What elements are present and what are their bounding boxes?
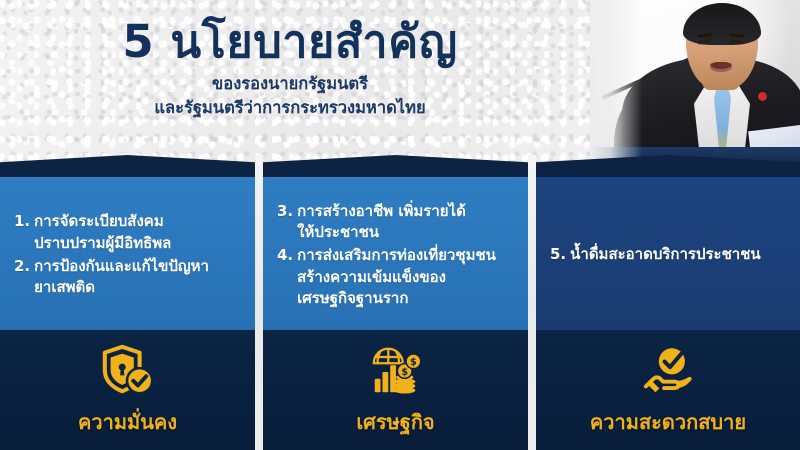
policy-card-3[interactable]: 5. น้ำดื่มสะอาดบริการประชาชน <box>536 155 800 333</box>
policy-number: 2. <box>14 256 30 277</box>
policy-line: เศรษฐกิจฐานราก <box>297 289 408 307</box>
policy-number: 5. <box>550 244 566 265</box>
pillar-convenience[interactable]: ความสะดวกสบาย <box>536 330 800 450</box>
pillars-band: ความมั่นคง <box>0 330 800 450</box>
policy-item: 5. น้ำดื่มสะอาดบริการประชาชน <box>550 244 788 265</box>
policy-card-1-list: 1. การจัดระเบียบสังคม ปราบปรามผู้มีอิทธิ… <box>0 177 255 333</box>
policy-item: 1. การจัดระเบียบสังคม ปราบปรามผู้มีอิทธิ… <box>14 211 243 254</box>
policy-text: การสร้างอาชีพ เพิ่มรายได้ ให้ประชาชน <box>297 201 516 244</box>
policy-card-3-body: 5. น้ำดื่มสะอาดบริการประชาชน <box>536 177 800 333</box>
policy-line: การป้องกันและแก้ไขปัญหา <box>34 257 209 275</box>
page-title: 5 นโยบายสำคัญ <box>0 18 580 65</box>
title-block: 5 นโยบายสำคัญ ของรองนายกรัฐมนตรี และรัฐม… <box>0 18 580 120</box>
column-divider-2 <box>528 155 536 450</box>
infographic-root: 5 นโยบายสำคัญ ของรองนายกรัฐมนตรี และรัฐม… <box>0 0 800 450</box>
policy-text: การส่งเสริมการท่องเที่ยวชุมชน สร้างความเ… <box>297 245 516 309</box>
shield-check-icon <box>97 342 159 400</box>
policy-line: การจัดระเบียบสังคม <box>34 212 164 230</box>
policy-item: 3. การสร้างอาชีพ เพิ่มรายได้ ให้ประชาชน <box>277 201 516 244</box>
policy-line: สร้างความเข้มแข็งของ <box>297 268 446 286</box>
policy-card-2-list: 3. การสร้างอาชีพ เพิ่มรายได้ ให้ประชาชน … <box>263 177 528 333</box>
svg-text:$: $ <box>410 357 417 368</box>
policy-number: 3. <box>277 201 293 222</box>
svg-text:$: $ <box>401 367 408 378</box>
pillar-economy[interactable]: $ $ เศรษฐกิจ <box>263 330 528 450</box>
policy-text: การป้องกันและแก้ไขปัญหา ยาเสพติด <box>34 256 243 299</box>
policy-card-1-body: 1. การจัดระเบียบสังคม ปราบปรามผู้มีอิทธิ… <box>0 177 255 333</box>
policy-text: น้ำดื่มสะอาดบริการประชาชน <box>570 244 788 265</box>
policy-text: การจัดระเบียบสังคม ปราบปรามผู้มีอิทธิพล <box>34 211 243 254</box>
policy-item: 4. การส่งเสริมการท่องเที่ยวชุมชน สร้างคว… <box>277 245 516 309</box>
policy-line: ให้ประชาชน <box>297 223 379 241</box>
policy-line: ปราบปรามผู้มีอิทธิพล <box>34 234 171 252</box>
hand-check-icon <box>637 342 699 400</box>
policy-line: การสร้างอาชีพ เพิ่มรายได้ <box>297 202 466 220</box>
policy-line: การส่งเสริมการท่องเที่ยวชุมชน <box>297 246 496 264</box>
page-subtitle: ของรองนายกรัฐมนตรี และรัฐมนตรีว่าการกระท… <box>0 72 580 120</box>
photo-left-fade <box>590 0 642 165</box>
policy-card-2[interactable]: 3. การสร้างอาชีพ เพิ่มรายได้ ให้ประชาชน … <box>263 155 528 333</box>
photo-eye-right <box>730 40 743 45</box>
policy-item: 2. การป้องกันและแก้ไขปัญหา ยาเสพติด <box>14 256 243 299</box>
policy-number: 1. <box>14 211 30 232</box>
header: 5 นโยบายสำคัญ ของรองนายกรัฐมนตรี และรัฐม… <box>0 0 800 158</box>
subtitle-line-1: ของรองนายกรัฐมนตรี <box>0 72 580 96</box>
subtitle-line-2: และรัฐมนตรีว่าการกระทรวงมหาดไทย <box>0 96 580 120</box>
globe-economy-coins-icon: $ $ <box>365 342 427 400</box>
policy-card-3-list: 5. น้ำดื่มสะอาดบริการประชาชน <box>536 177 800 333</box>
policy-line: น้ำดื่มสะอาดบริการประชาชน <box>570 245 761 263</box>
pillar-label: ความมั่นคง <box>78 406 177 438</box>
pillar-security[interactable]: ความมั่นคง <box>0 330 255 450</box>
policy-line: ยาเสพติด <box>34 278 95 296</box>
photo-mouth <box>710 62 732 72</box>
pillar-label: เศรษฐกิจ <box>356 406 434 438</box>
minister-portrait-photo <box>590 0 800 165</box>
policy-number: 4. <box>277 245 293 266</box>
policy-card-1[interactable]: 1. การจัดระเบียบสังคม ปราบปรามผู้มีอิทธิ… <box>0 155 255 333</box>
pillar-label: ความสะดวกสบาย <box>590 406 746 438</box>
policy-card-2-body: 3. การสร้างอาชีพ เพิ่มรายได้ ให้ประชาชน … <box>263 177 528 333</box>
column-divider-1 <box>255 155 263 450</box>
policy-cards: 1. การจัดระเบียบสังคม ปราบปรามผู้มีอิทธิ… <box>0 155 800 333</box>
lapel-pin-icon <box>758 92 767 101</box>
